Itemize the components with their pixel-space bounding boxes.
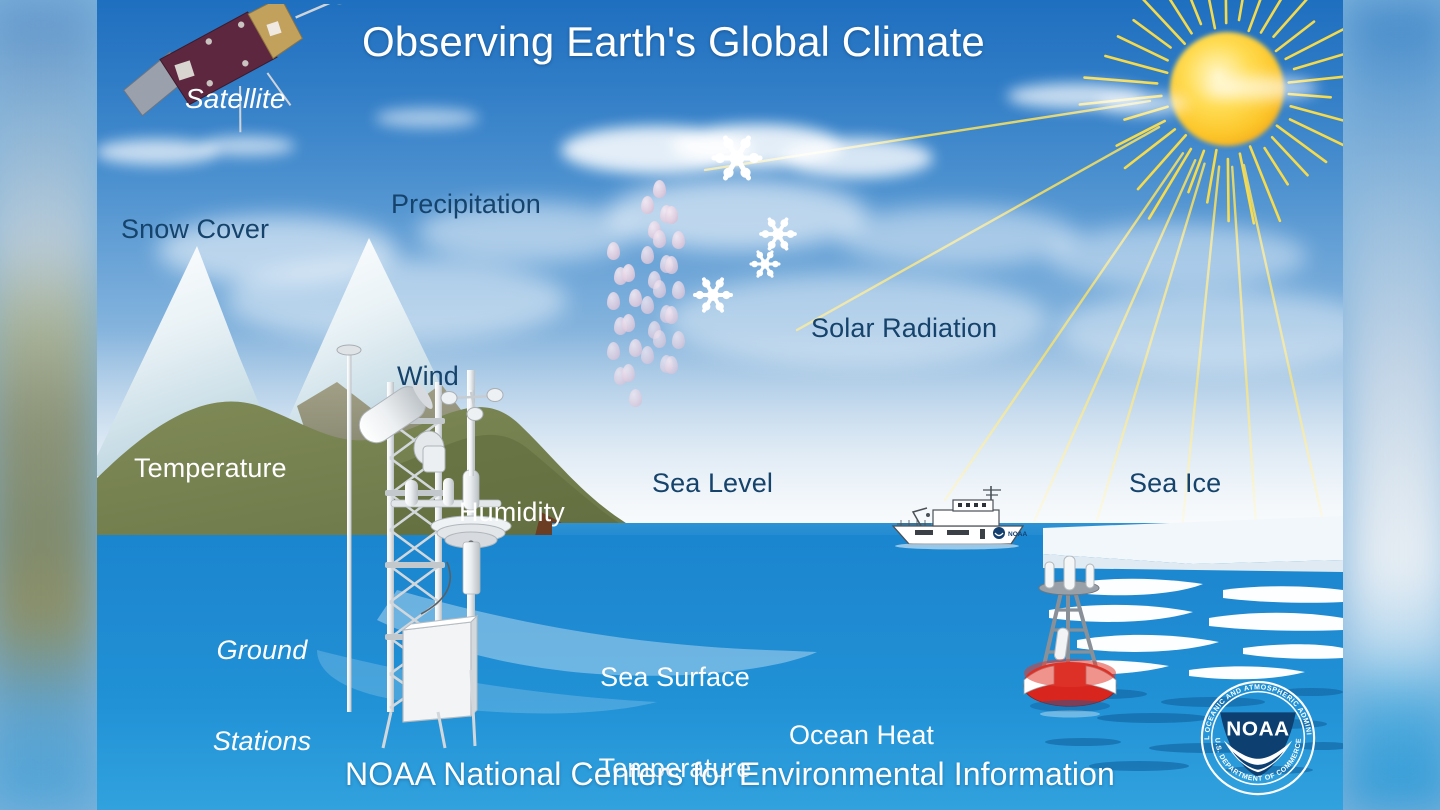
snowflake-icon [695,279,731,310]
label-sea-level: Sea Level [652,468,773,498]
raindrop-icon [653,330,666,348]
label-ground-stations-line2: Stations [187,726,337,756]
label-snow-cover: Snow Cover [121,214,269,244]
label-temperature: Temperature [134,453,287,483]
page-title: Observing Earth's Global Climate [362,18,985,65]
label-precipitation: Precipitation [391,189,541,219]
seal-wordmark: NOAA [1226,718,1290,741]
sun-icon [1170,32,1284,146]
label-ground-stations-line1: Ground [187,635,337,665]
label-wind: Wind [397,361,459,391]
letterbox-blur-left [0,0,96,810]
raindrop-icon [629,389,642,407]
label-ground-stations: Ground Stations [187,575,337,810]
ship-hull-mark: NOAA [1008,531,1027,538]
raindrop-icon [665,356,678,374]
label-solar-radiation: Solar Radiation [811,313,997,343]
raindrop-icon [672,331,685,349]
label-sst-line1: Sea Surface [580,662,770,692]
letterbox-blur-right [1344,0,1440,810]
satellite-icon [105,4,355,154]
illustration-canvas: NOAA [0,0,1440,810]
label-humidity: Humidity [459,497,565,527]
noaa-seal-icon: NOAA NATIONAL OCEANIC AND ATMOSPHERIC AD… [1197,677,1319,799]
snowflake-icon [751,252,779,276]
snowflake-icon [761,219,795,248]
raindrop-icon [622,364,635,382]
snowflake-icon [714,138,760,178]
weather-station-icon [325,330,545,750]
snowflake-group [617,118,817,318]
ocean-buoy-icon [1012,556,1132,736]
raindrop-icon [607,342,620,360]
label-satellite: Satellite [185,83,286,114]
climate-observation-illustration: NOAA [97,0,1343,810]
label-sea-ice: Sea Ice [1129,468,1221,498]
footer-attribution: NOAA National Centers for Environmental … [345,757,1115,793]
raindrop-icon [641,346,654,364]
research-vessel-icon: NOAA [887,486,1037,556]
label-ohc-line1: Ocean Heat [769,720,954,750]
raindrop-icon [629,339,642,357]
